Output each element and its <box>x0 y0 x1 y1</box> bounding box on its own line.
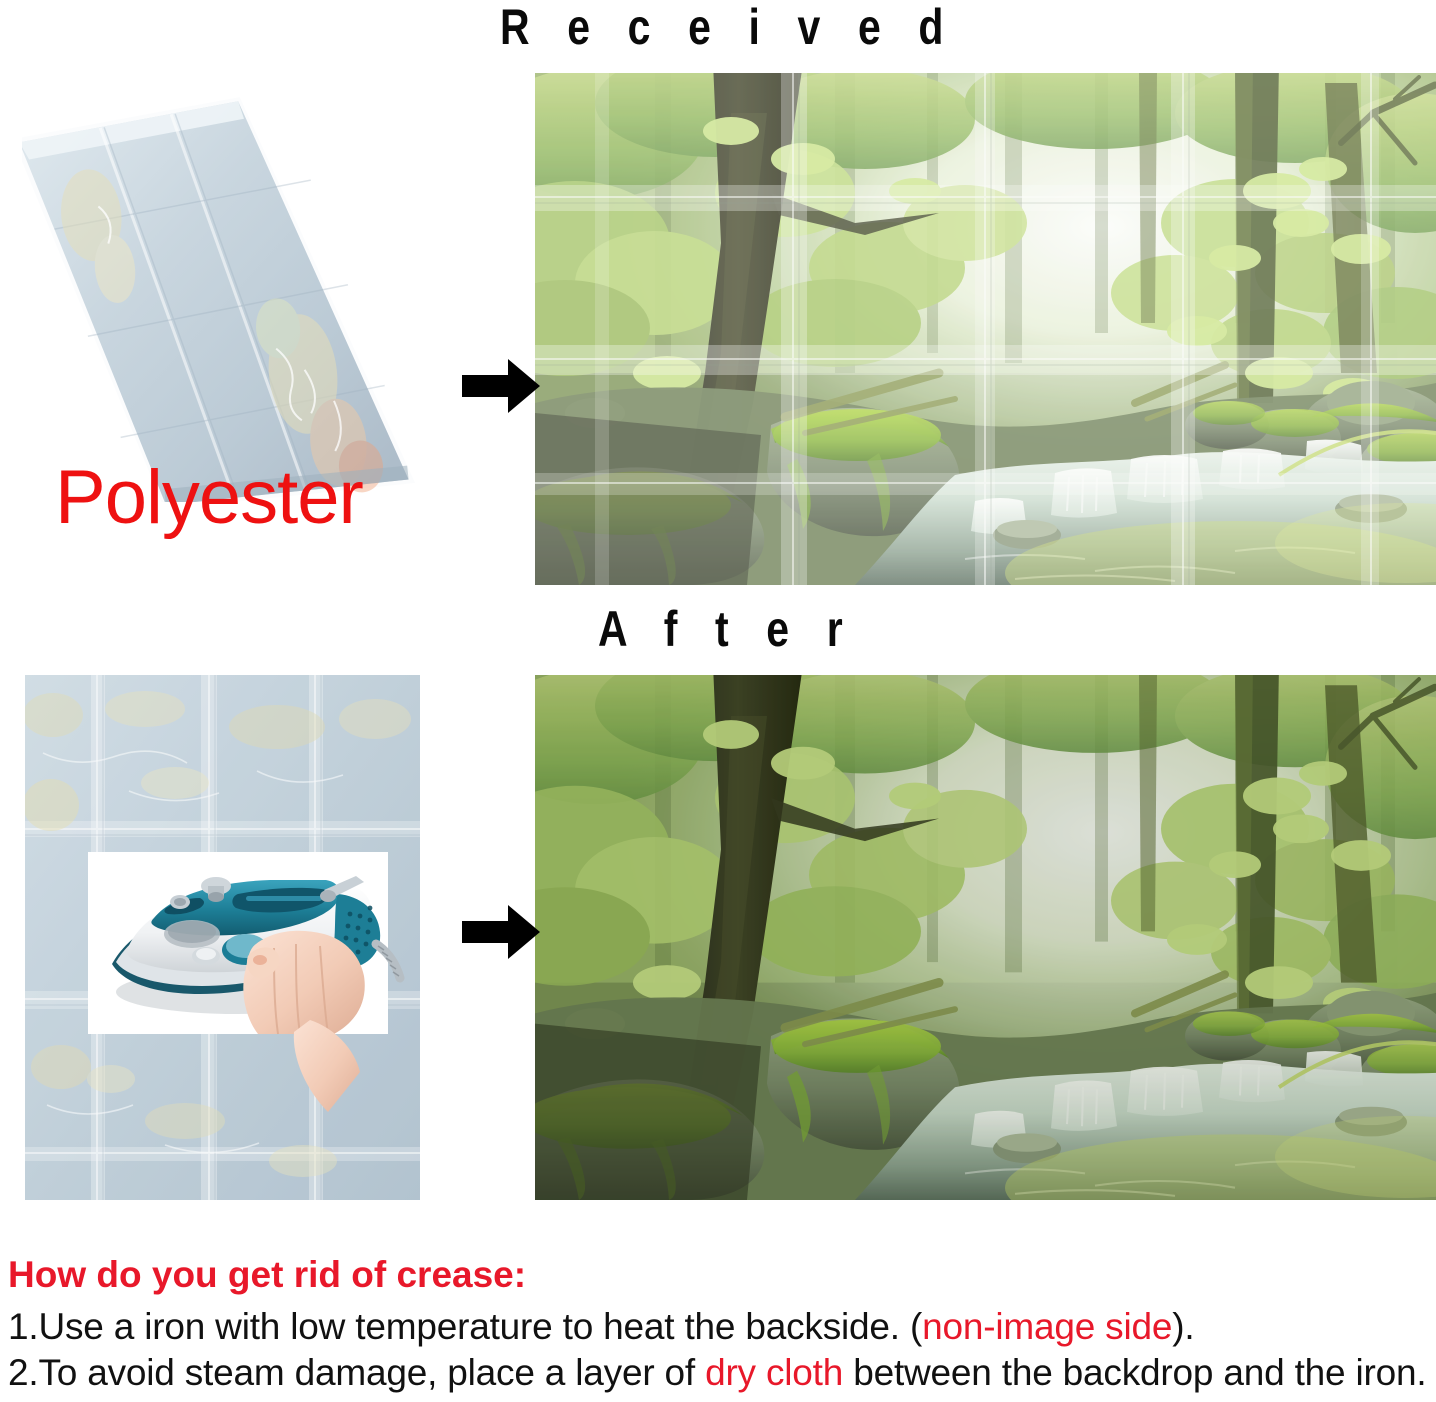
instruction-2-suffix: between the backdrop and the iron. <box>843 1352 1426 1393</box>
instruction-line-2: 2.To avoid steam damage, place a layer o… <box>8 1350 1436 1396</box>
infographic-page: R e c e i v e d <box>0 0 1436 1402</box>
instruction-1-suffix: ). <box>1172 1306 1194 1347</box>
instruction-2-prefix: 2.To avoid steam damage, place a layer o… <box>8 1352 705 1393</box>
instruction-1-prefix: 1.Use a iron with low temperature to hea… <box>8 1306 922 1347</box>
instruction-line-1: 1.Use a iron with low temperature to hea… <box>8 1304 1436 1350</box>
after-title: A f t e r <box>598 604 856 654</box>
received-title: R e c e i v e d <box>500 2 957 52</box>
iron-and-hand-photo <box>88 852 388 1034</box>
instruction-1-highlight: non-image side <box>922 1306 1172 1347</box>
received-backdrop-image <box>535 73 1436 585</box>
arrow-right-icon <box>462 357 540 415</box>
arrow-right-icon-2 <box>462 903 540 961</box>
after-backdrop-image <box>535 675 1436 1200</box>
instruction-2-highlight: dry cloth <box>705 1352 843 1393</box>
instructions-block: How do you get rid of crease: 1.Use a ir… <box>8 1252 1436 1396</box>
polyester-label: Polyester <box>55 460 363 536</box>
instructions-heading: How do you get rid of crease: <box>8 1252 1436 1297</box>
folded-fabric-image <box>22 82 422 502</box>
